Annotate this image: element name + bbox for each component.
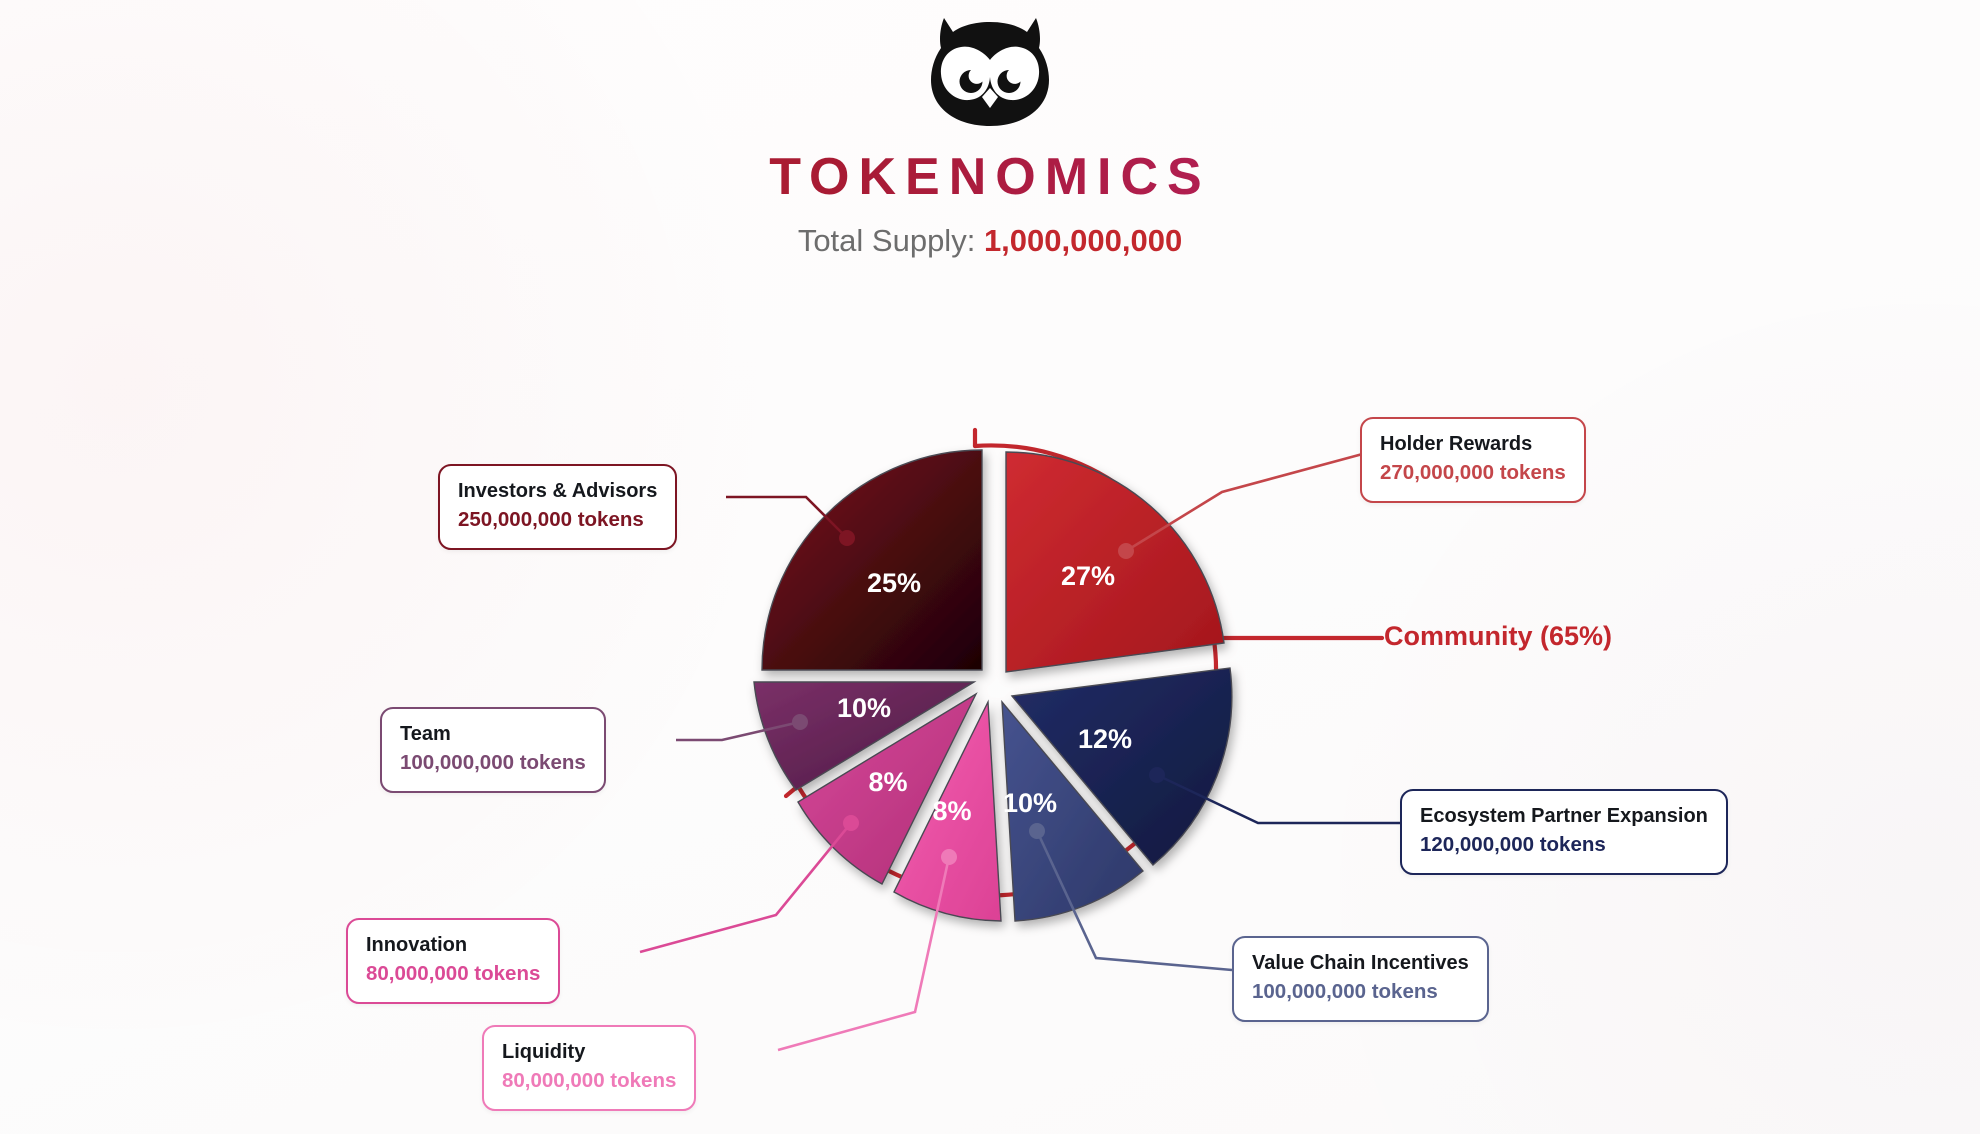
connector-dot-holder-rewards <box>1118 543 1134 559</box>
callout-title: Ecosystem Partner Expansion <box>1420 803 1708 829</box>
connector-dot-liquidity <box>941 849 957 865</box>
connector-dot-ecosystem <box>1149 767 1165 783</box>
connector-dot-investors <box>839 530 855 546</box>
connector-innovation <box>640 823 851 952</box>
callout-title: Value Chain Incentives <box>1252 950 1469 976</box>
callout-title: Holder Rewards <box>1380 431 1566 457</box>
callout-holder-rewards[interactable]: Holder Rewards 270,000,000 tokens <box>1360 417 1586 503</box>
callout-title: Team <box>400 721 586 747</box>
callout-innovation[interactable]: Innovation 80,000,000 tokens <box>346 918 560 1004</box>
callout-value: 250,000,000 tokens <box>458 506 657 534</box>
callout-title: Liquidity <box>502 1039 676 1065</box>
callout-liquidity[interactable]: Liquidity 80,000,000 tokens <box>482 1025 696 1111</box>
pie-slices <box>754 450 1232 921</box>
connector-dot-value-chain <box>1029 823 1045 839</box>
callout-title: Investors & Advisors <box>458 478 657 504</box>
callout-title: Innovation <box>366 932 540 958</box>
tokenomics-infographic: TOKENOMICS Total Supply: 1,000,000,000 <box>0 0 1980 1134</box>
pie-chart: 27% 12% 10% 8% 8% 10% 25% <box>0 0 1980 1134</box>
connector-dot-innovation <box>843 815 859 831</box>
slice-label-investors: 25% <box>867 568 921 598</box>
connector-dot-team <box>792 714 808 730</box>
slice-label-value-chain: 10% <box>1003 788 1057 818</box>
callout-value: 100,000,000 tokens <box>1252 978 1469 1006</box>
slice-investors-advisors[interactable] <box>762 450 982 670</box>
callout-team[interactable]: Team 100,000,000 tokens <box>380 707 606 793</box>
slice-label-team: 10% <box>837 693 891 723</box>
callout-ecosystem-partner-expansion[interactable]: Ecosystem Partner Expansion 120,000,000 … <box>1400 789 1728 875</box>
community-label: Community (65%) <box>1384 621 1612 652</box>
callout-value: 120,000,000 tokens <box>1420 831 1708 859</box>
callout-value: 80,000,000 tokens <box>366 960 540 988</box>
callout-value: 270,000,000 tokens <box>1380 459 1566 487</box>
callout-value-chain-incentives[interactable]: Value Chain Incentives 100,000,000 token… <box>1232 936 1489 1022</box>
callout-investors-advisors[interactable]: Investors & Advisors 250,000,000 tokens <box>438 464 677 550</box>
slice-label-ecosystem: 12% <box>1078 724 1132 754</box>
slice-label-holder-rewards: 27% <box>1061 561 1115 591</box>
slice-label-liquidity: 8% <box>932 796 971 826</box>
callout-value: 80,000,000 tokens <box>502 1067 676 1095</box>
slice-label-innovation: 8% <box>868 767 907 797</box>
callout-value: 100,000,000 tokens <box>400 749 586 777</box>
